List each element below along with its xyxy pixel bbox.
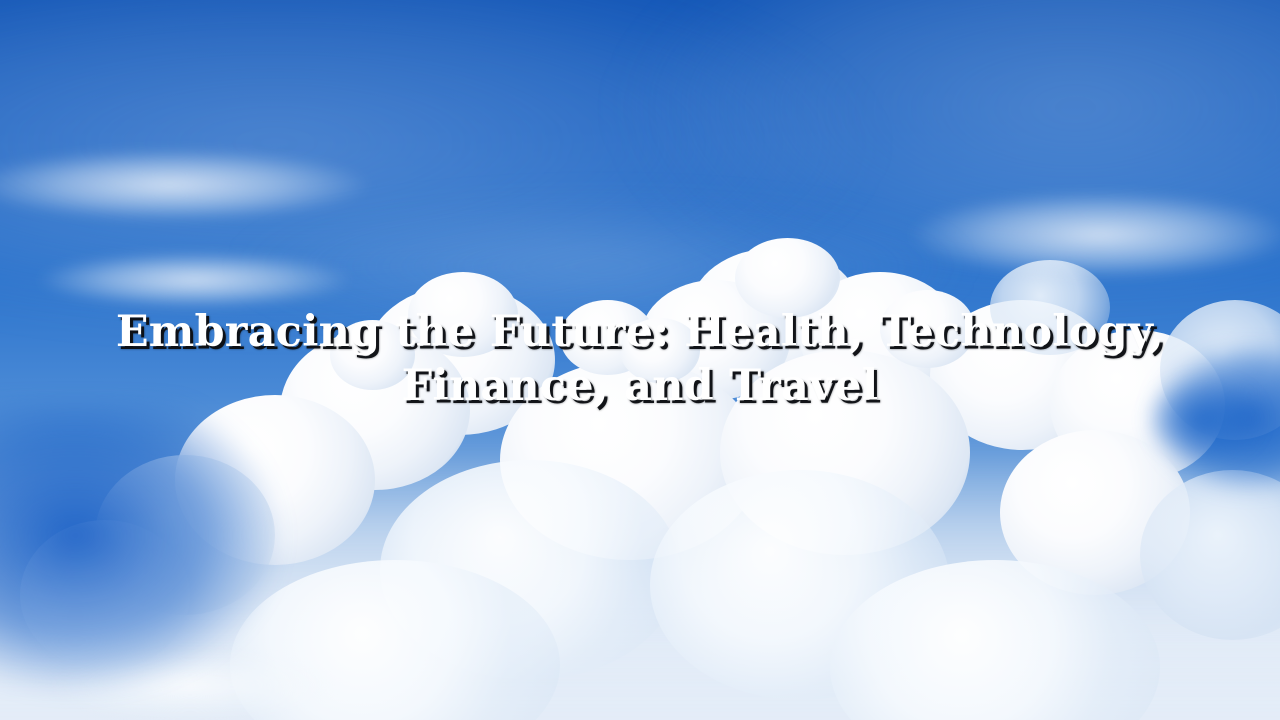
cloud-wisp-right xyxy=(900,180,1280,290)
cloud-wisp-mid-left xyxy=(30,245,360,315)
sky-gap-lower-left xyxy=(0,403,358,720)
hero-banner: Embracing the Future: Health, Technology… xyxy=(0,0,1280,720)
page-title: Embracing the Future: Health, Technology… xyxy=(72,306,1208,414)
cloud-wisp-upper-left xyxy=(0,140,380,230)
